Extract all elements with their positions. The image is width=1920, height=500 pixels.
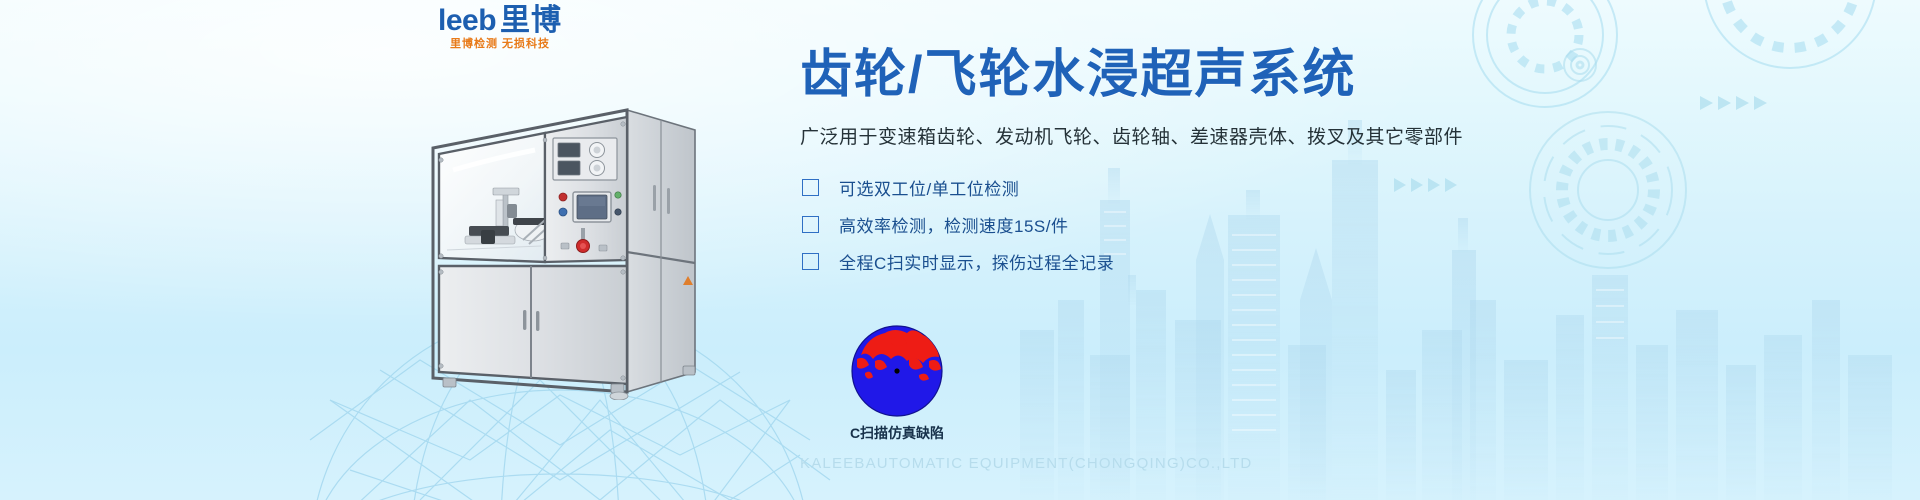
feature-list: 可选双工位/单工位检测 高效率检测，检测速度15S/件 全程C扫实时显示，探伤过… — [800, 169, 1560, 280]
feature-label: 可选双工位/单工位检测 — [839, 175, 1019, 200]
logo-chinese: 里博 — [500, 4, 562, 37]
promo-banner: leeb里博 里博检测 无损科技 — [0, 0, 1920, 500]
feature-label: 高效率检测，检测速度15S/件 — [839, 212, 1068, 237]
brand-logo[interactable]: leeb里博 里博检测 无损科技 — [420, 6, 580, 50]
cscan-defect-map — [851, 325, 943, 417]
logo-wordmark: leeb里博 — [420, 6, 580, 36]
ultrasonic-machine-illustration — [395, 100, 725, 400]
subtitle-text: 广泛用于变速箱齿轮、发动机飞轮、齿轮轴、差速器壳体、拨叉及其它零部件 — [800, 122, 1560, 149]
product-photo — [395, 100, 725, 400]
list-item: 高效率检测，检测速度15S/件 — [800, 206, 1560, 243]
cscan-caption: C扫描仿真缺陷 — [822, 423, 972, 443]
checkbox-icon — [802, 253, 819, 270]
company-watermark: KALEEBAUTOMATIC EQUIPMENT(CHONGQING)CO.,… — [800, 455, 1252, 472]
cscan-image — [851, 325, 943, 417]
logo-latin: leeb — [438, 4, 496, 37]
page-title: 齿轮/飞轮水浸超声系统 — [800, 46, 1560, 106]
list-item: 全程C扫实时显示，探伤过程全记录 — [800, 243, 1560, 280]
list-item: 可选双工位/单工位检测 — [800, 169, 1560, 206]
cscan-sample: C扫描仿真缺陷 — [822, 325, 972, 443]
copy-block: 齿轮/飞轮水浸超声系统 广泛用于变速箱齿轮、发动机飞轮、齿轮轴、差速器壳体、拨叉… — [800, 46, 1560, 280]
target-circle-icon — [1564, 49, 1596, 81]
checkbox-icon — [802, 216, 819, 233]
checkbox-icon — [802, 179, 819, 196]
feature-label: 全程C扫实时显示，探伤过程全记录 — [839, 249, 1114, 274]
logo-tagline: 里博检测 无损科技 — [420, 39, 580, 50]
